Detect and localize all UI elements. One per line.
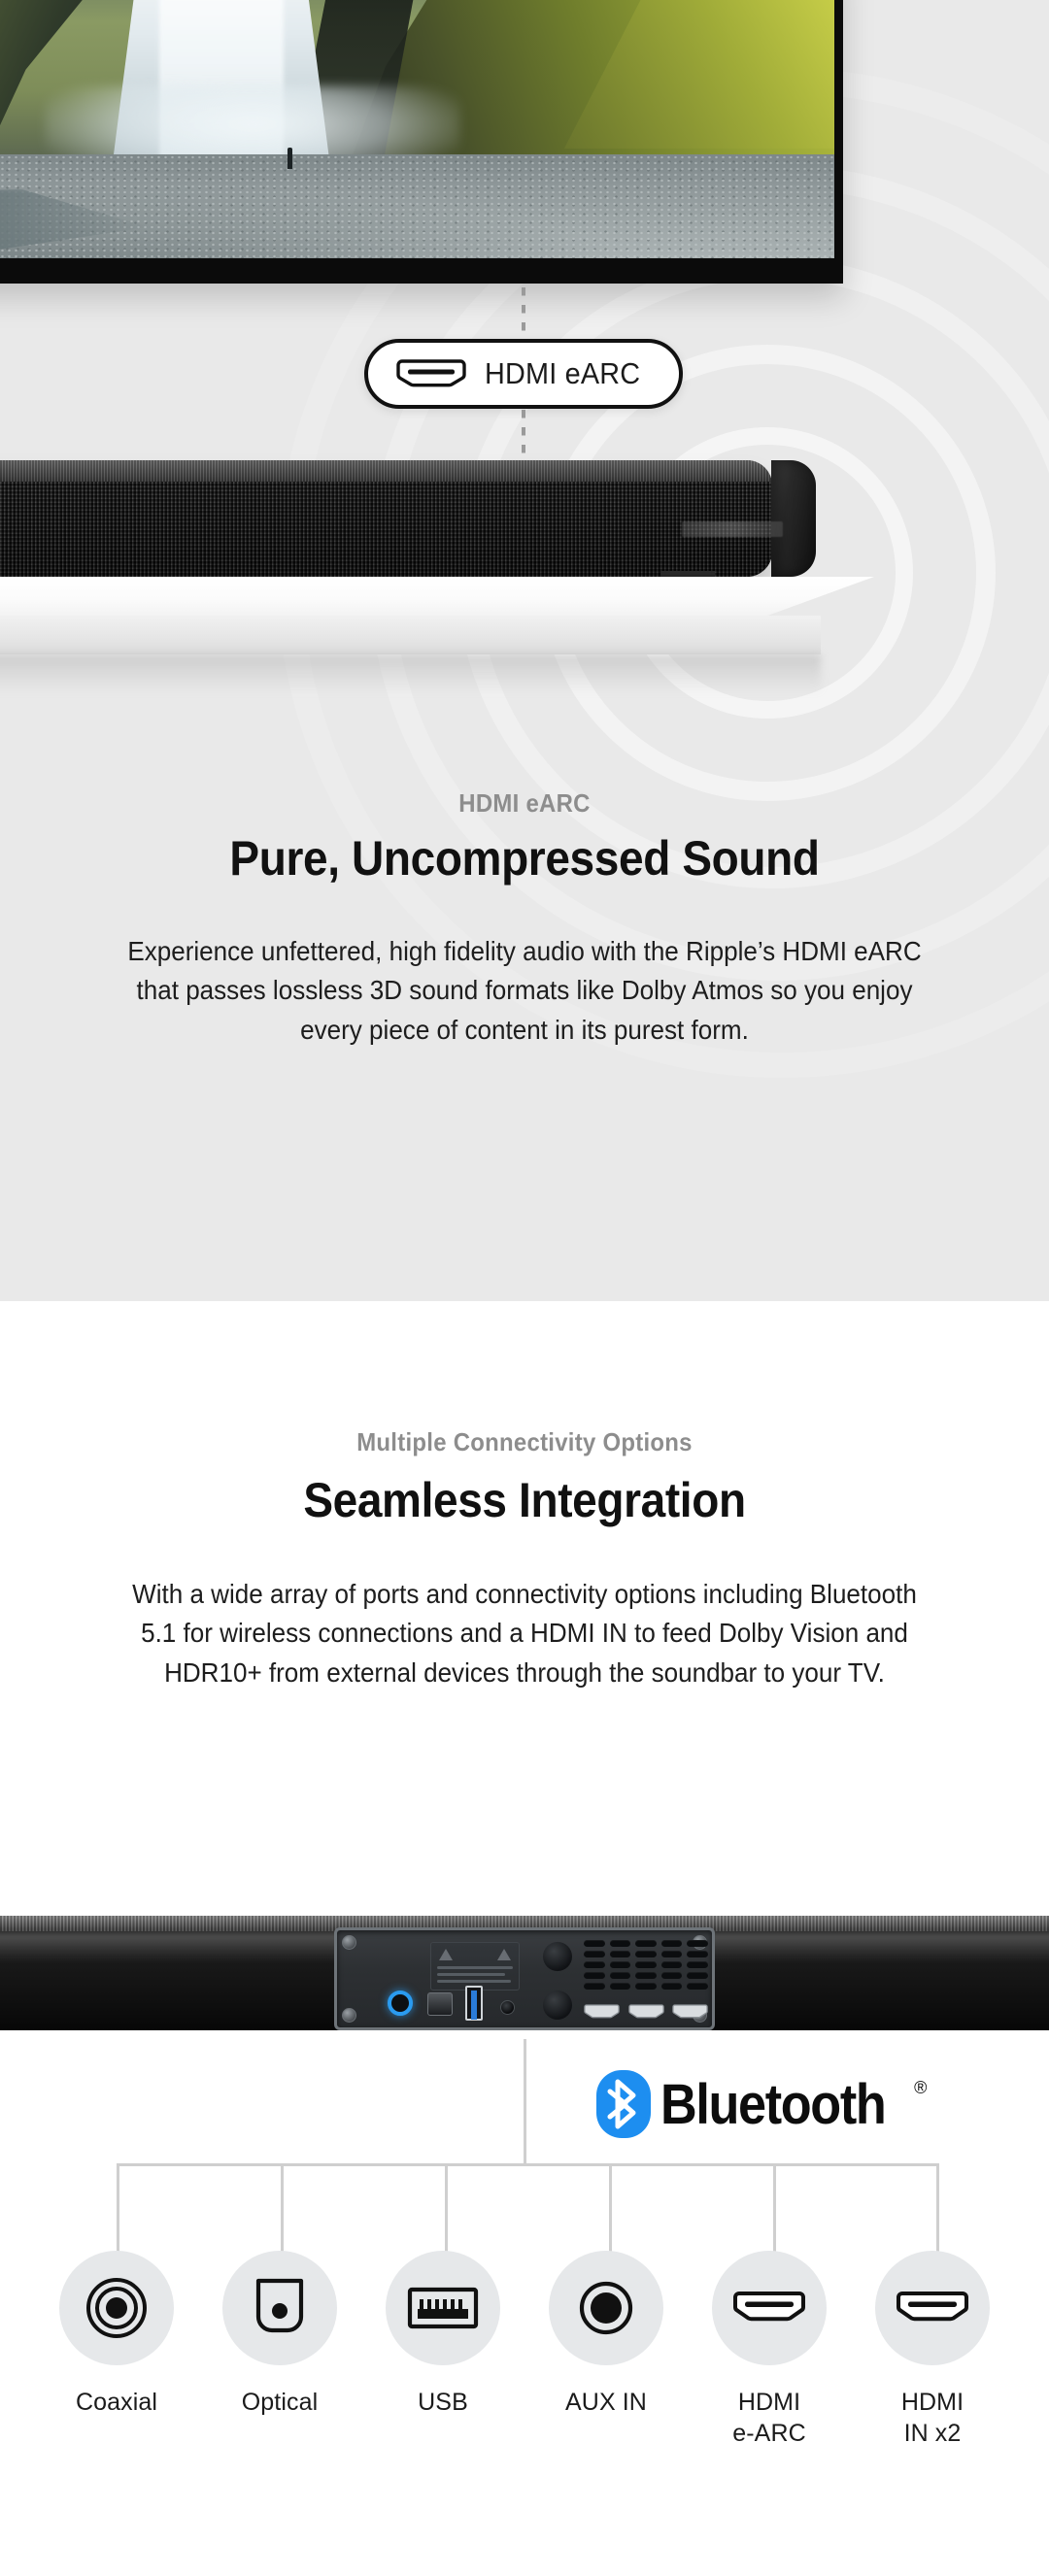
rear-mount-hole [543,1942,572,1971]
connector-stem [524,2039,526,2165]
port-item-coaxial[interactable]: Coaxial [35,2251,198,2418]
person-silhouette [288,148,292,169]
hero-body-text: Experience unfettered, high fidelity aud… [37,932,1012,1050]
rear-hdmi-ports [584,1996,708,2025]
shelf-shadow [0,654,821,693]
port-item-optical[interactable]: Optical [198,2251,361,2418]
port-label: HDMI IN x2 [901,2387,964,2449]
port-label: HDMI e-ARC [732,2387,806,2449]
tv-screen-image [0,0,834,258]
port-icon-wrapper [386,2251,500,2365]
optical-port-icon [253,2276,307,2340]
dolby-atmos-logo [682,521,783,537]
connector-drop [281,2163,284,2255]
screw-icon [342,1935,356,1950]
connectivity-eyebrow: Multiple Connectivity Options [42,1427,1007,1457]
soundbar-top-grille [0,460,772,482]
rear-coaxial-port [388,1991,413,2016]
port-icon-wrapper [712,2251,827,2365]
connector-bar [117,2163,939,2166]
connector-drop [936,2163,939,2255]
port-item-aux[interactable]: AUX IN [524,2251,688,2418]
shelf-surface [0,577,874,618]
port-item-hdmi-in[interactable]: HDMI IN x2 [851,2251,1014,2449]
coaxial-port-icon [85,2276,149,2340]
connector-drop [117,2163,119,2255]
port-item-hdmi-earc[interactable]: HDMI e-ARC [688,2251,851,2449]
soundbar-end-cap [771,460,816,577]
rear-optical-port [427,1992,453,2016]
rear-port-plate [334,1927,715,2030]
hero-eyebrow: HDMI eARC [42,788,1007,819]
shelf-front-edge [0,616,821,654]
hdmi-port-icon [672,2003,708,2020]
soundbar-rear-panel [0,1916,1049,2044]
hdmi-port-icon [628,2003,664,2020]
rear-usb-port [465,1986,483,2021]
hero-section: HDMI eARC HDMI eARC Pure, Uncompressed S… [0,0,1049,1301]
port-list: Coaxial Optical [0,2251,1049,2449]
hero-headline: Pure, Uncompressed Sound [42,830,1007,887]
rear-mount-hole [543,1991,572,2020]
usb-port-icon [407,2283,479,2333]
connectivity-body-text: With a wide array of ports and connectiv… [37,1575,1012,1692]
television [0,0,843,284]
port-label: USB [418,2387,468,2418]
hdmi-earc-badge: HDMI eARC [364,339,683,409]
port-icon-wrapper [59,2251,174,2365]
port-icon-wrapper [875,2251,990,2365]
port-item-usb[interactable]: USB [361,2251,524,2418]
hdmi-earc-port-icon [732,2289,806,2327]
connector-tree [0,2039,1049,2233]
aux-port-icon [578,2280,634,2336]
connector-dotted-line [522,287,525,340]
warning-label [430,1942,520,1991]
connector-drop [773,2163,776,2255]
connector-drop [609,2163,612,2255]
hdmi-in-port-icon [896,2289,969,2327]
connectivity-headline: Seamless Integration [42,1472,1007,1528]
port-label: AUX IN [565,2387,647,2418]
rear-vent-grille [584,1940,708,1992]
screw-icon [342,2008,356,2023]
port-icon-wrapper [549,2251,663,2365]
hdmi-port-icon [395,357,467,390]
port-label: Optical [242,2387,319,2418]
hdmi-port-icon [584,2003,620,2020]
soundbar-body [0,460,772,577]
port-icon-wrapper [222,2251,337,2365]
soundbar-front [0,452,816,588]
hdmi-earc-badge-label: HDMI eARC [485,356,640,391]
port-label: Coaxial [76,2387,157,2418]
soundbar-mesh-grille [0,482,772,577]
connectivity-section: Multiple Connectivity Options Seamless I… [0,1301,1049,2576]
rear-aux-port [500,2000,515,2015]
connector-drop [445,2163,448,2255]
